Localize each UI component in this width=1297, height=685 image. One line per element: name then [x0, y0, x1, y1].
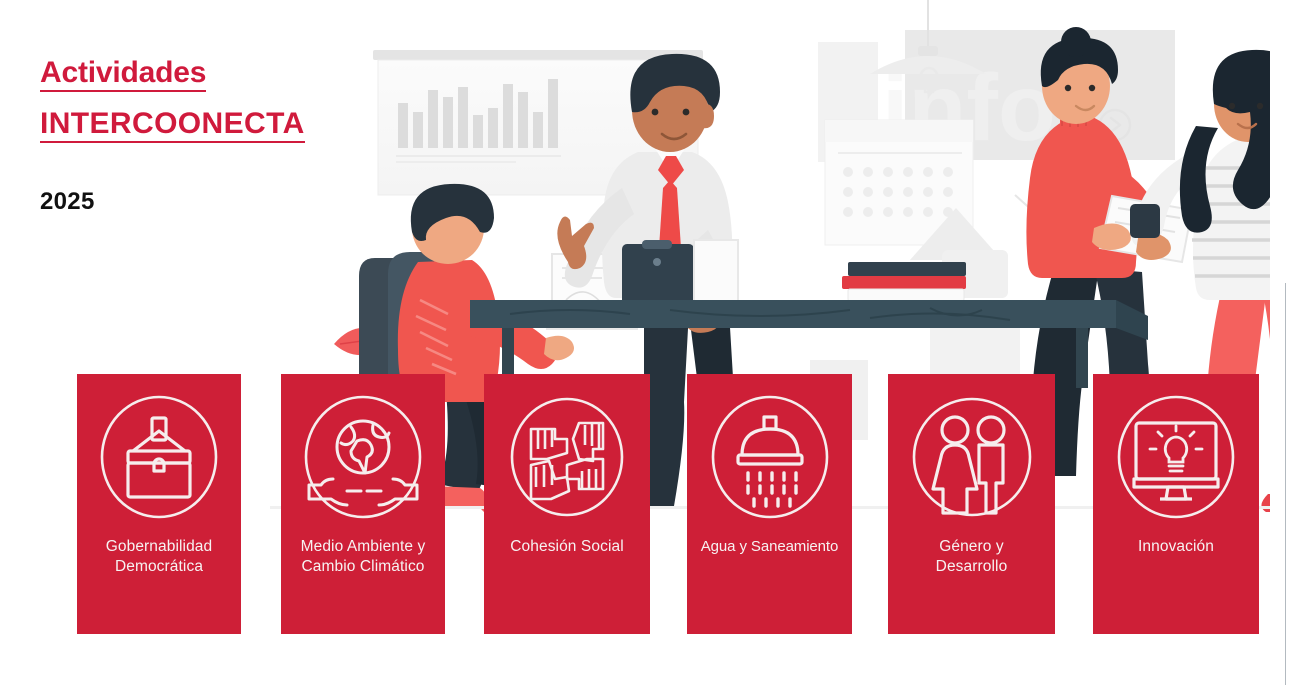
- card-label: Medio Ambiente y Cambio Climático: [298, 537, 429, 577]
- title-year: 2025: [40, 188, 95, 216]
- ballot-box-icon: [95, 393, 223, 521]
- card-label: Género y Desarrollo: [933, 537, 1011, 577]
- male-female-figures-icon: [908, 393, 1036, 521]
- shower-head-icon: [706, 393, 834, 521]
- slide-canvas: Actividades INTERCOONECTA 2025 info: [0, 0, 1297, 685]
- category-card-innovacion[interactable]: Innovación: [1093, 374, 1259, 634]
- card-label: Agua y Saneamiento: [698, 537, 841, 557]
- category-card-cohesion-social[interactable]: Cohesión Social: [484, 374, 650, 634]
- card-label: Gobernabilidad Democrática: [103, 537, 216, 577]
- card-label: Innovación: [1135, 537, 1217, 557]
- title-line-intercoonecta: INTERCOONECTA: [40, 109, 305, 143]
- monitor-lightbulb-icon: [1112, 393, 1240, 521]
- category-card-genero-y-desarrollo[interactable]: Género y Desarrollo: [888, 374, 1055, 634]
- globe-in-hands-icon: [299, 393, 427, 521]
- category-card-gobernabilidad-democratica[interactable]: Gobernabilidad Democrática: [77, 374, 241, 634]
- category-card-agua-y-saneamiento[interactable]: Agua y Saneamiento: [687, 374, 852, 634]
- category-card-medio-ambiente-cambio-climatico[interactable]: Medio Ambiente y Cambio Climático: [281, 374, 445, 634]
- title-line-actividades: Actividades: [40, 58, 206, 92]
- card-label: Cohesión Social: [507, 537, 627, 557]
- right-edge-divider: [1285, 283, 1286, 685]
- four-hands-together-icon: [503, 393, 631, 521]
